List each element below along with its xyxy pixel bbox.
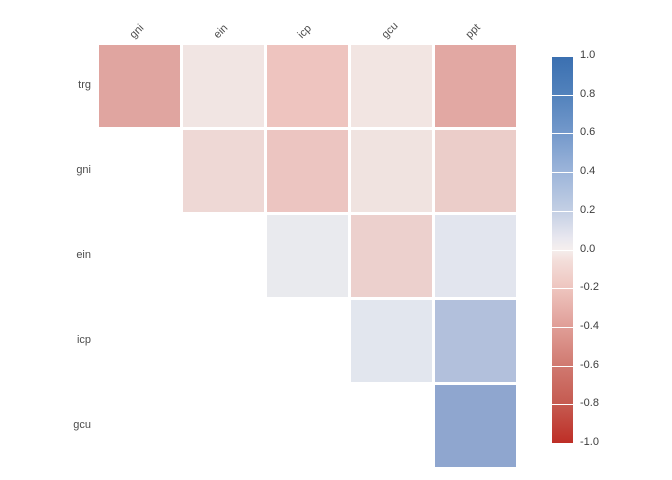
colorbar-tick-label: 0.4: [580, 166, 595, 177]
heatmap-grid: [99, 45, 519, 470]
heatmap-cell: [183, 130, 264, 212]
row-label-gni: gni: [31, 165, 91, 176]
row-label-trg: trg: [31, 80, 91, 91]
colorbar-tick-label: 0.6: [580, 127, 595, 138]
colorbar-tick-label: 0.2: [580, 205, 595, 216]
heatmap-cell: [267, 130, 348, 212]
correlation-heatmap-figure: gnieinicpgcuppt trggnieinicpgcu 1.00.80.…: [0, 0, 672, 480]
colorbar-tick-label: 1.0: [580, 50, 595, 61]
heatmap-cell: [99, 45, 180, 127]
row-label-icp: icp: [31, 335, 91, 346]
colorbar-tick-label: -0.4: [580, 321, 599, 332]
heatmap-cell: [183, 45, 264, 127]
column-label-icp: icp: [296, 23, 314, 41]
colorbar-tick-label: -0.2: [580, 282, 599, 293]
colorbar-tick-mark: [552, 443, 573, 444]
column-label-ein: ein: [212, 23, 230, 41]
heatmap-cell: [435, 45, 516, 127]
heatmap-cell: [435, 215, 516, 297]
heatmap-cell: [351, 300, 432, 382]
colorbar-tick-label: -0.8: [580, 398, 599, 409]
heatmap-cell: [351, 215, 432, 297]
heatmap-cell: [267, 45, 348, 127]
column-label-ppt: ppt: [464, 22, 483, 41]
heatmap-cell: [351, 130, 432, 212]
colorbar-tick-label: -0.6: [580, 360, 599, 371]
heatmap-cell: [267, 215, 348, 297]
heatmap-cell: [435, 385, 516, 467]
colorbar-gradient: [552, 56, 573, 443]
heatmap-cell: [435, 300, 516, 382]
row-label-gcu: gcu: [31, 420, 91, 431]
colorbar-tick-label: 0.0: [580, 244, 595, 255]
column-axis-labels: gnieinicpgcuppt: [99, 0, 519, 45]
colorbar-tick-label: -1.0: [580, 437, 599, 448]
column-label-gcu: gcu: [380, 21, 400, 41]
column-label-gni: gni: [128, 23, 146, 41]
colorbar-tick-label: 0.8: [580, 89, 595, 100]
row-axis-labels: trggnieinicpgcu: [29, 45, 91, 470]
row-label-ein: ein: [31, 250, 91, 261]
heatmap-cell: [351, 45, 432, 127]
heatmap-cell: [435, 130, 516, 212]
